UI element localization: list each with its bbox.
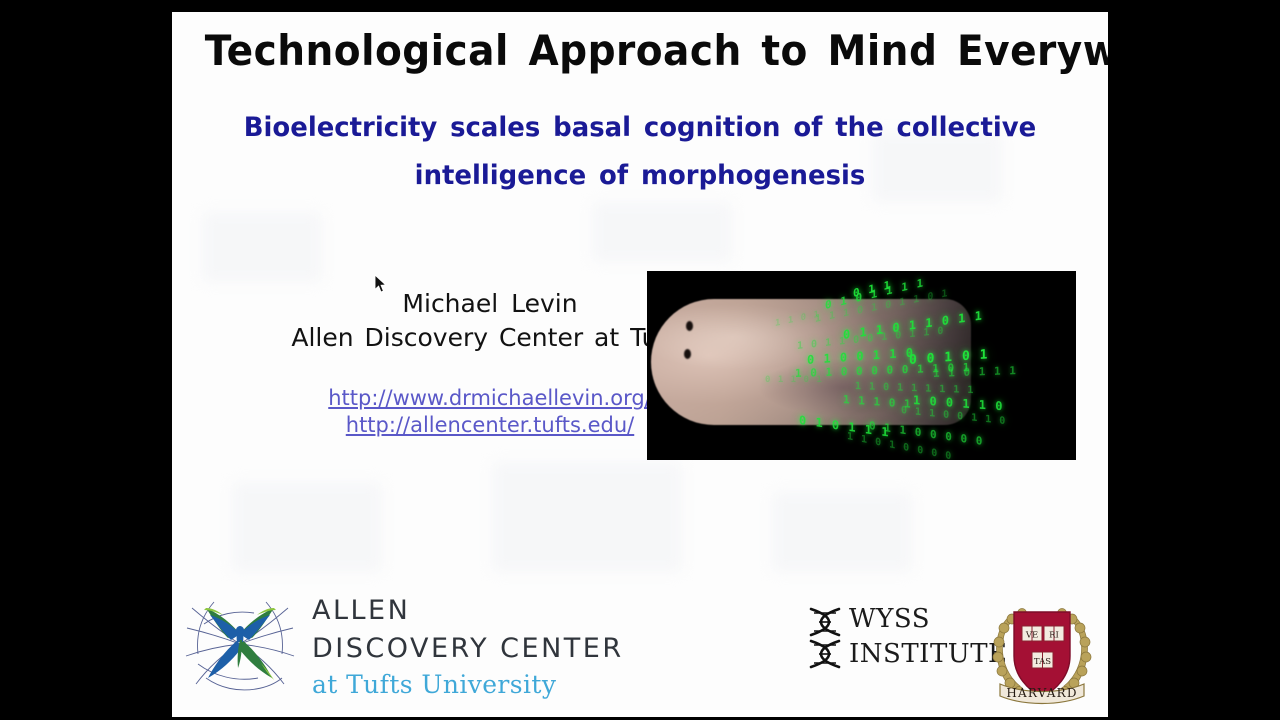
dna-helix-icon — [805, 606, 845, 672]
subtitle-line-1: Bioelectricity scales basal cognition of… — [237, 104, 1043, 152]
background-artifact — [592, 202, 732, 262]
harvard-banner: HARVARD — [1000, 684, 1084, 704]
svg-text:HARVARD: HARVARD — [1006, 686, 1077, 700]
slide-title: Technological Approach to Mind Everywher… — [205, 26, 1075, 75]
svg-text:TAS: TAS — [1034, 657, 1051, 667]
slide-canvas: Technological Approach to Mind Everywher… — [172, 12, 1108, 717]
background-artifact — [492, 462, 682, 572]
bird-field-lines-icon — [184, 590, 296, 698]
planarian-body — [651, 299, 971, 425]
logo-harvard-crest: VE RI TAS HARVARD — [986, 600, 1098, 712]
presentation-stage: Technological Approach to Mind Everywher… — [0, 0, 1280, 720]
background-artifact — [202, 212, 322, 282]
allen-line-1: ALLEN — [312, 592, 624, 630]
svg-text:RI: RI — [1049, 631, 1059, 641]
wyss-line-1: WYSS — [849, 602, 1008, 637]
wyss-line-2: INSTITUTE — [849, 637, 1008, 672]
binary-code-row: 1 1 0 1 0 0 0 0 — [847, 431, 952, 460]
svg-text:VE: VE — [1025, 631, 1038, 641]
binary-code-row: 0 1 1 — [853, 278, 891, 300]
figure-planarian-binary: 0 1 10 1 0 1 1 1 11 1 1 0 1 0 1 1 0 10 1… — [647, 271, 1076, 460]
allen-logo-text: ALLEN DISCOVERY CENTER at Tufts Universi… — [312, 592, 624, 702]
background-artifact — [772, 492, 912, 572]
slide-subtitle: Bioelectricity scales basal cognition of… — [237, 104, 1043, 200]
allen-line-3: at Tufts University — [312, 668, 624, 702]
mouse-pointer-icon — [374, 274, 387, 293]
planarian-eyespot-left — [686, 321, 693, 331]
allen-line-2: DISCOVERY CENTER — [312, 630, 624, 668]
background-artifact — [232, 482, 382, 572]
logo-wyss-institute: WYSS INSTITUTE — [805, 604, 983, 676]
subtitle-line-2: intelligence of morphogenesis — [237, 152, 1043, 200]
wyss-logo-text: WYSS INSTITUTE — [849, 602, 1008, 672]
logo-allen-discovery-center: ALLEN DISCOVERY CENTER at Tufts Universi… — [184, 586, 704, 704]
planarian-eyespot-right — [684, 349, 691, 359]
